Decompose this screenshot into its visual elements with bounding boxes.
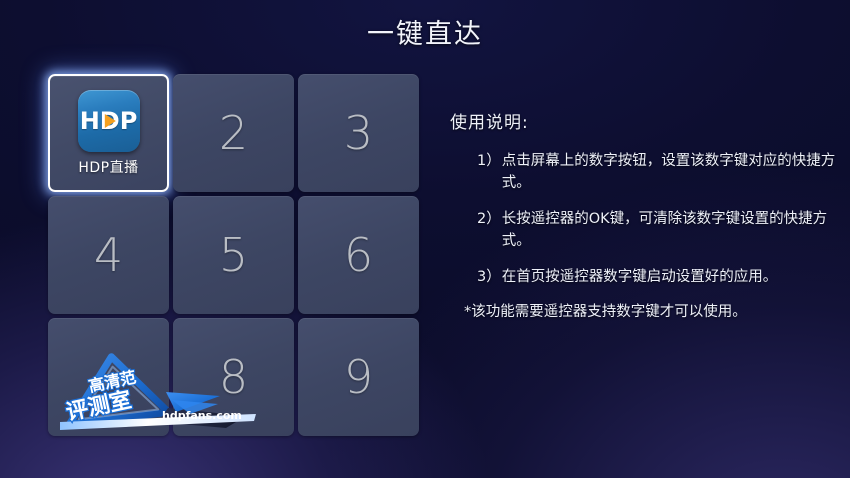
instruction-item-2: 2） 长按遥控器的OK键，可清除该数字键设置的快捷方式。 [477, 208, 842, 252]
shortcut-tile-9[interactable]: 9 [298, 318, 419, 436]
instruction-item-2-text: 长按遥控器的OK键，可清除该数字键设置的快捷方式。 [502, 208, 842, 252]
play-triangle-icon [104, 114, 115, 128]
shortcut-tile-4-number: 4 [94, 232, 123, 278]
shortcut-tile-3-number: 3 [344, 110, 373, 156]
instruction-item-3-marker: 3） [477, 266, 501, 288]
instruction-item-3: 3） 在首页按遥控器数字键启动设置好的应用。 [477, 266, 842, 288]
shortcut-tile-6-number: 6 [344, 232, 373, 278]
shortcut-tile-2[interactable]: 2 [173, 74, 294, 192]
tv-launcher-screen: 一键直达 HDP HDP直播 2 3 4 5 6 8 [0, 0, 850, 478]
shortcut-tile-5-number: 5 [219, 232, 248, 278]
shortcut-tile-1[interactable]: HDP HDP直播 [48, 74, 169, 192]
page-title-text: 一键直达 [367, 19, 483, 50]
page-title: 一键直达 [0, 12, 850, 51]
instruction-item-1: 1） 点击屏幕上的数字按钮，设置该数字键对应的快捷方式。 [477, 150, 842, 194]
shortcut-tile-6[interactable]: 6 [298, 196, 419, 314]
instructions-list: 1） 点击屏幕上的数字按钮，设置该数字键对应的快捷方式。 2） 长按遥控器的OK… [450, 150, 842, 288]
instruction-item-3-text: 在首页按遥控器数字键启动设置好的应用。 [502, 266, 842, 288]
hdp-app-icon: HDP [78, 90, 140, 152]
shortcut-grid: HDP HDP直播 2 3 4 5 6 8 9 [48, 74, 419, 436]
instruction-item-1-text: 点击屏幕上的数字按钮，设置该数字键对应的快捷方式。 [502, 150, 842, 194]
shortcut-tile-8-number: 8 [219, 354, 248, 400]
shortcut-tile-8[interactable]: 8 [173, 318, 294, 436]
shortcut-tile-1-label: HDP直播 [78, 157, 138, 177]
shortcut-tile-7[interactable] [48, 318, 169, 436]
shortcut-tile-9-number: 9 [344, 354, 373, 400]
instructions-footnote: *该功能需要遥控器支持数字键才可以使用。 [464, 302, 842, 324]
instructions-panel: 使用说明: 1） 点击屏幕上的数字按钮，设置该数字键对应的快捷方式。 2） 长按… [450, 108, 842, 324]
instructions-heading: 使用说明: [450, 108, 842, 133]
instruction-item-2-marker: 2） [477, 208, 501, 252]
shortcut-tile-2-number: 2 [219, 110, 248, 156]
shortcut-tile-3[interactable]: 3 [298, 74, 419, 192]
shortcut-tile-5[interactable]: 5 [173, 196, 294, 314]
shortcut-tile-4[interactable]: 4 [48, 196, 169, 314]
instruction-item-1-marker: 1） [477, 150, 501, 194]
